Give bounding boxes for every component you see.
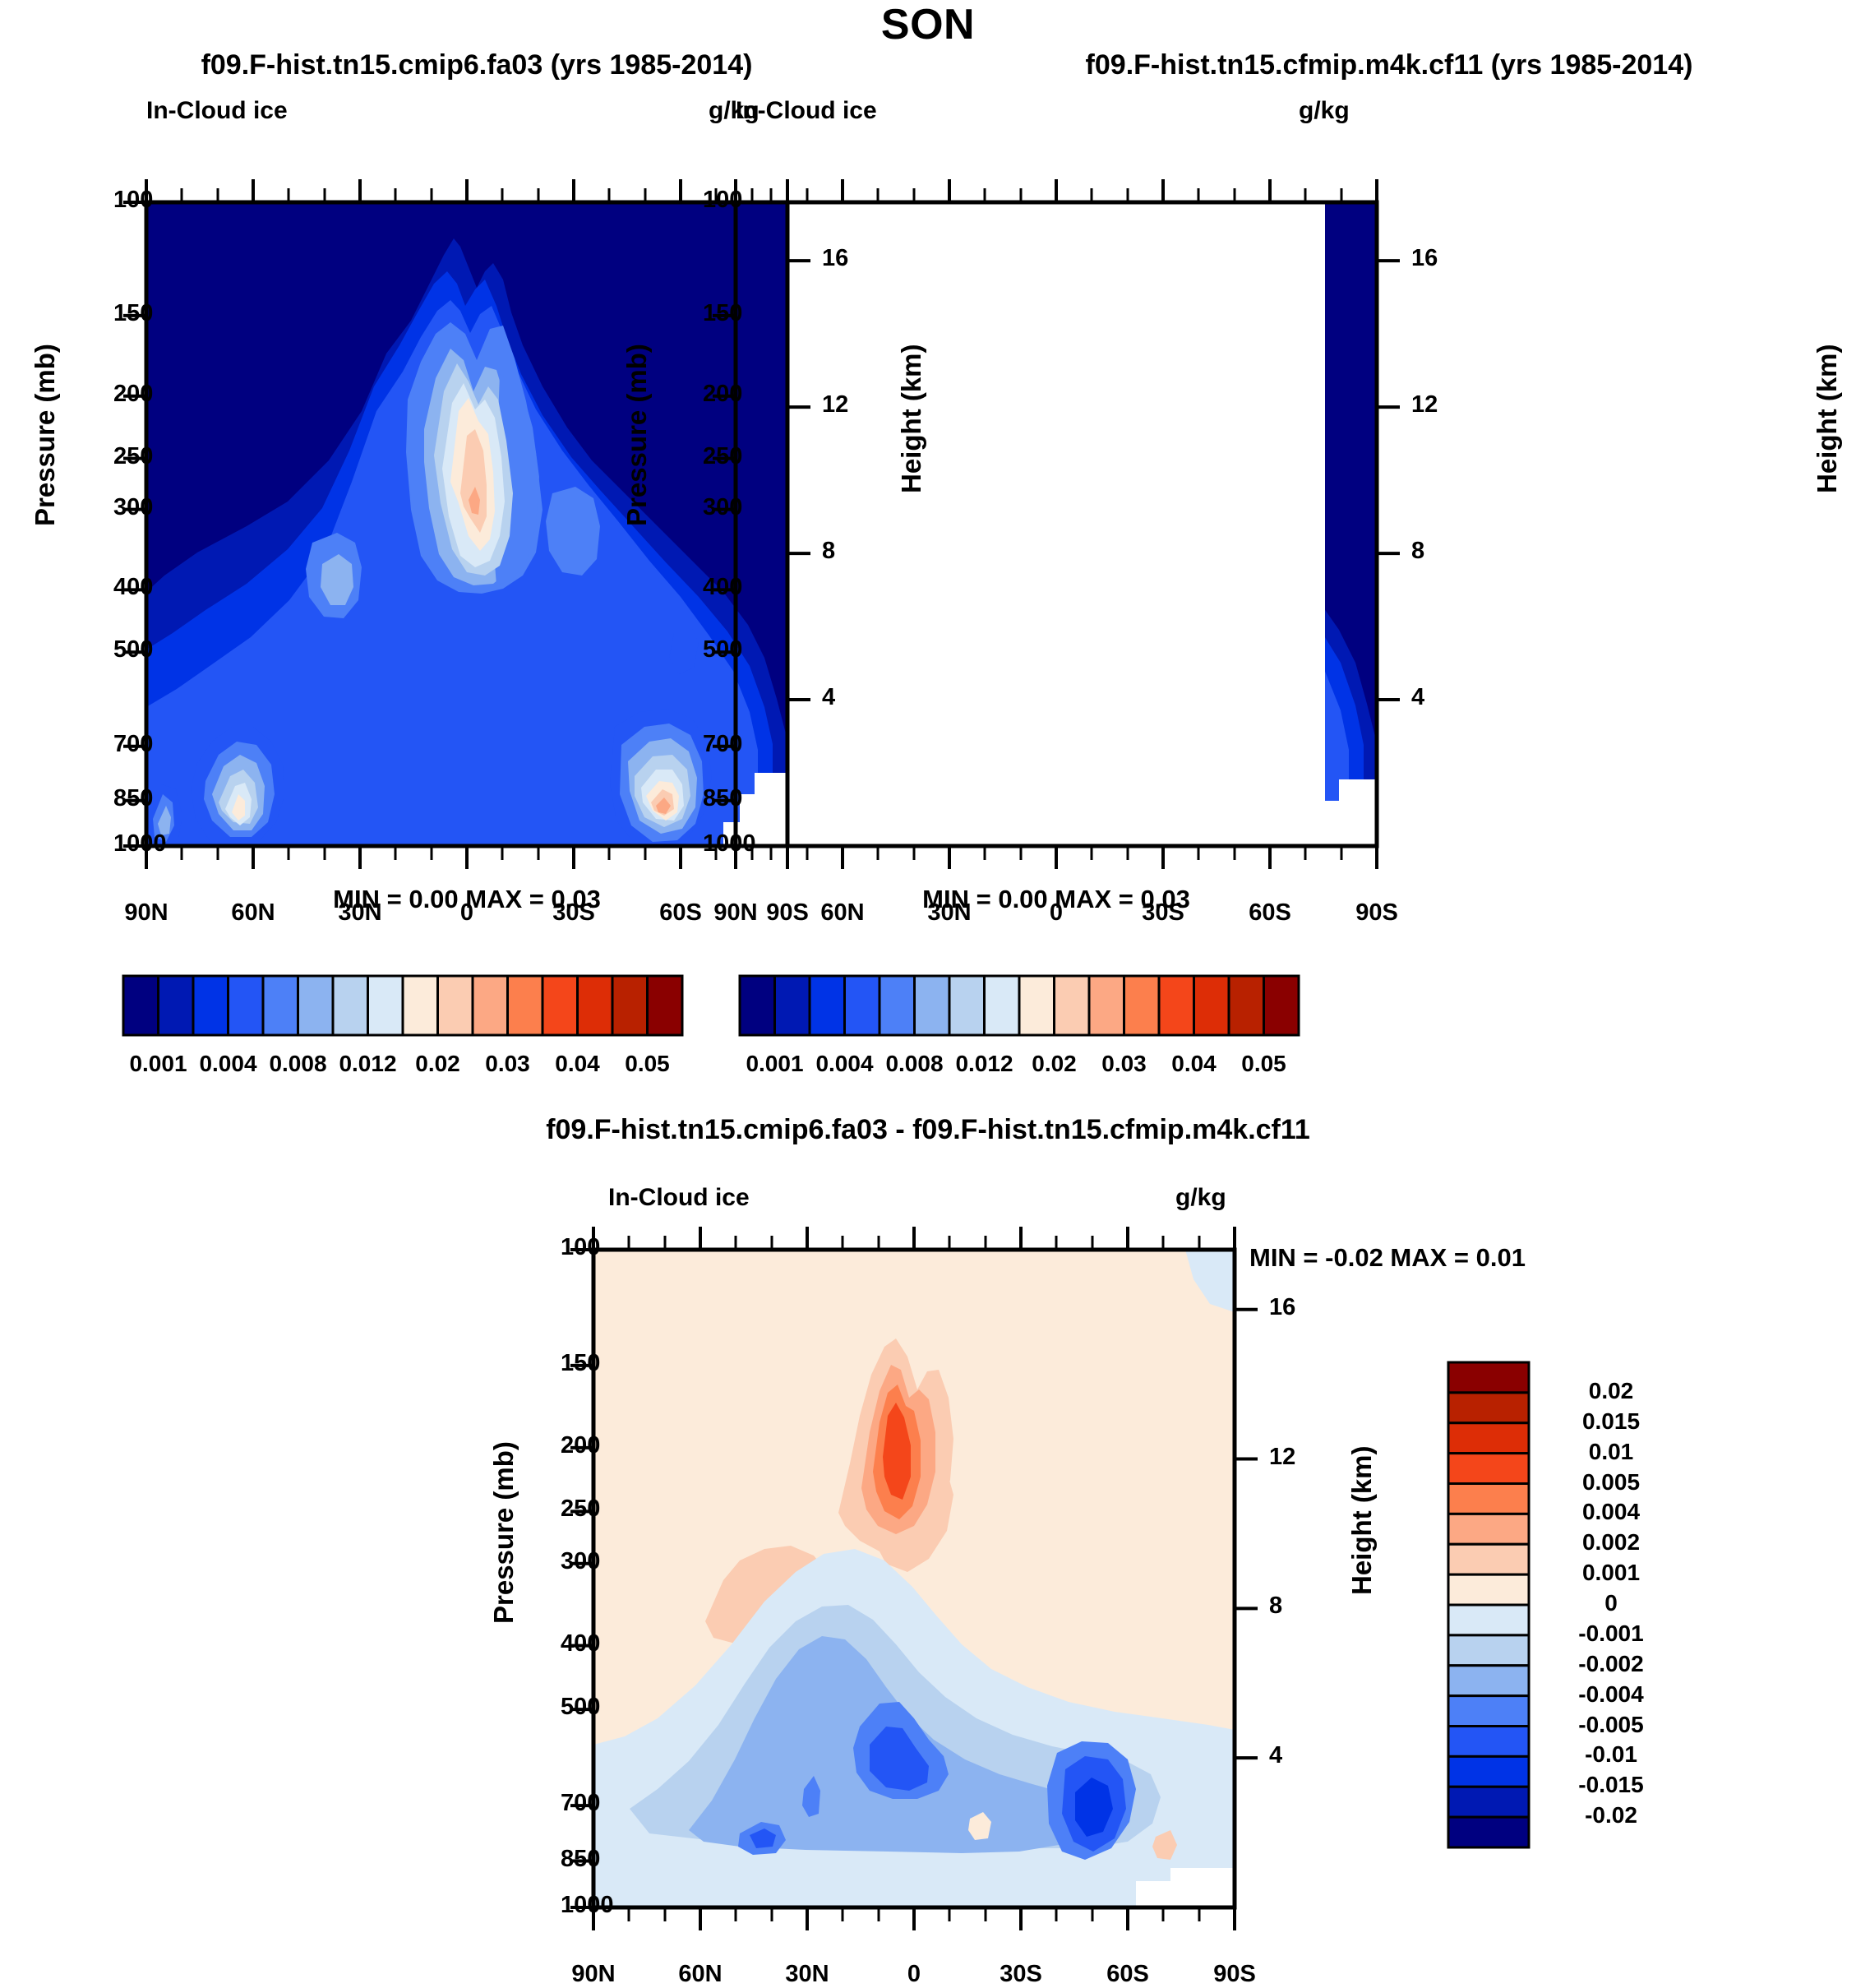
colorbar-tick-label: -0.001 — [1545, 1620, 1677, 1647]
lat-tick-60S: 60S — [1078, 1961, 1177, 1988]
colorbar-diff[interactable] — [1447, 1361, 1554, 1850]
colorbar-swatch[interactable] — [1448, 1787, 1529, 1817]
colorbar-tick-label: -0.004 — [1545, 1681, 1677, 1708]
colorbar-tick-label: -0.002 — [1545, 1651, 1677, 1677]
colorbar-swatch[interactable] — [1448, 1362, 1529, 1393]
lat-tick-30S: 30S — [972, 1961, 1070, 1988]
colorbar-swatch[interactable] — [1448, 1756, 1529, 1787]
lat-tick-30N: 30N — [758, 1961, 856, 1988]
colorbar-tick-label: 0.015 — [1545, 1408, 1677, 1435]
colorbar-swatch[interactable] — [1448, 1696, 1529, 1727]
colorbar-swatch[interactable] — [1448, 1817, 1529, 1847]
colorbar-tick-label: -0.015 — [1545, 1772, 1677, 1798]
colorbar-tick-label: 0 — [1545, 1590, 1677, 1616]
colorbar-tick-label: 0.002 — [1545, 1529, 1677, 1556]
colorbar-swatch[interactable] — [1448, 1727, 1529, 1757]
height-tick-4: 4 — [1269, 1742, 1282, 1769]
lat-tick-90N: 90N — [544, 1961, 643, 1988]
lat-tick-60N: 60N — [651, 1961, 750, 1988]
colorbar-tick-label: 0.004 — [1545, 1499, 1677, 1525]
colorbar-swatch[interactable] — [1448, 1454, 1529, 1484]
colorbar-swatch[interactable] — [1448, 1393, 1529, 1423]
colorbar-tick-label: -0.02 — [1545, 1802, 1677, 1828]
lat-tick-90S: 90S — [1185, 1961, 1284, 1988]
colorbar-swatch[interactable] — [1448, 1666, 1529, 1696]
colorbar-swatch[interactable] — [1448, 1605, 1529, 1635]
height-tick-8: 8 — [1269, 1593, 1282, 1620]
colorbar-tick-label: 0.01 — [1545, 1439, 1677, 1465]
colorbar-swatch[interactable] — [1448, 1423, 1529, 1454]
height-tick-16: 16 — [1269, 1294, 1295, 1321]
height-tick-12: 12 — [1269, 1444, 1295, 1471]
colorbar-swatch[interactable] — [1448, 1514, 1529, 1544]
colorbar-swatch[interactable] — [1448, 1544, 1529, 1574]
colorbar-tick-label: -0.01 — [1545, 1741, 1677, 1768]
colorbar-tick-label: 0.02 — [1545, 1378, 1677, 1404]
colorbar-swatch[interactable] — [1448, 1574, 1529, 1605]
colorbar-swatch[interactable] — [1448, 1635, 1529, 1666]
colorbar-tick-label: -0.005 — [1545, 1712, 1677, 1738]
lat-tick-0: 0 — [865, 1961, 963, 1988]
colorbar-tick-label: 0.005 — [1545, 1469, 1677, 1496]
colorbar-tick-label: 0.001 — [1545, 1560, 1677, 1586]
colorbar-swatch[interactable] — [1448, 1484, 1529, 1514]
